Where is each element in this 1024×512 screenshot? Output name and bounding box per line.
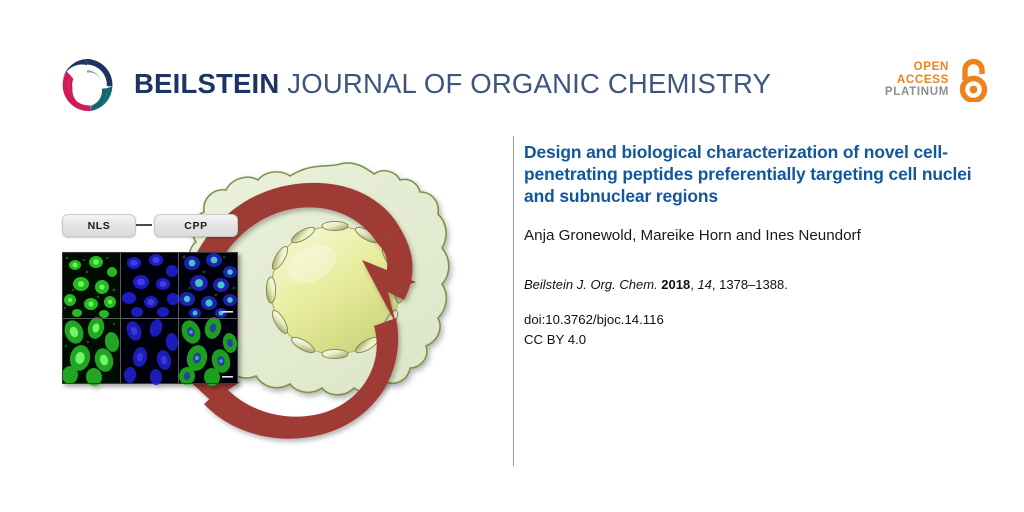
graphical-abstract: NLS CPP xyxy=(44,132,500,468)
column-divider xyxy=(513,136,514,466)
open-access-line-3: PLATINUM xyxy=(885,86,949,99)
article-doi: doi:10.3762/bjoc.14.116 xyxy=(524,310,976,330)
open-access-line-2: ACCESS xyxy=(885,74,949,87)
scale-bar-icon xyxy=(222,311,233,313)
open-access-line-1: OPEN xyxy=(885,61,949,74)
open-access-badge: OPEN ACCESS PLATINUM xyxy=(885,58,992,102)
citation-journal: Beilstein J. Org. Chem. xyxy=(524,277,658,292)
article-title: Design and biological characterization o… xyxy=(524,142,976,208)
micrograph-cell-r1c3 xyxy=(179,253,237,318)
article-authors: Anja Gronewold, Mareike Horn and Ines Ne… xyxy=(524,226,976,246)
micrograph-cell-r1c1 xyxy=(63,253,120,318)
scale-bar-icon xyxy=(222,376,233,378)
open-access-unlocked-padlock-icon xyxy=(956,58,992,102)
open-access-label: OPEN ACCESS PLATINUM xyxy=(885,61,949,100)
micrograph-cell-r2c3 xyxy=(178,315,239,387)
poster-page: BEILSTEIN JOURNAL OF ORGANIC CHEMISTRY O… xyxy=(0,0,1024,512)
article-citation: Beilstein J. Org. Chem. 2018, 14, 1378–1… xyxy=(524,276,976,294)
micrograph-cell-r1c2 xyxy=(121,253,179,317)
journal-masthead: BEILSTEIN JOURNAL OF ORGANIC CHEMISTRY xyxy=(56,54,771,116)
article-license: CC BY 4.0 xyxy=(524,330,976,350)
micrograph-cell-r2c2 xyxy=(121,318,179,386)
micrograph-cell-r2c1 xyxy=(61,315,121,387)
journal-name-bold: BEILSTEIN xyxy=(134,68,279,99)
journal-name-light: JOURNAL OF ORGANIC CHEMISTRY xyxy=(287,68,771,99)
article-metadata: Design and biological characterization o… xyxy=(524,142,976,349)
journal-wordmark: BEILSTEIN JOURNAL OF ORGANIC CHEMISTRY xyxy=(134,70,771,100)
beilstein-spiral-logo-icon xyxy=(56,54,118,116)
citation-year: 2018 xyxy=(661,277,690,292)
micrograph-grid xyxy=(61,252,239,387)
citation-pages: 1378–1388. xyxy=(719,277,788,292)
graphical-abstract-illustration xyxy=(44,132,500,468)
citation-volume: 14 xyxy=(697,277,711,292)
